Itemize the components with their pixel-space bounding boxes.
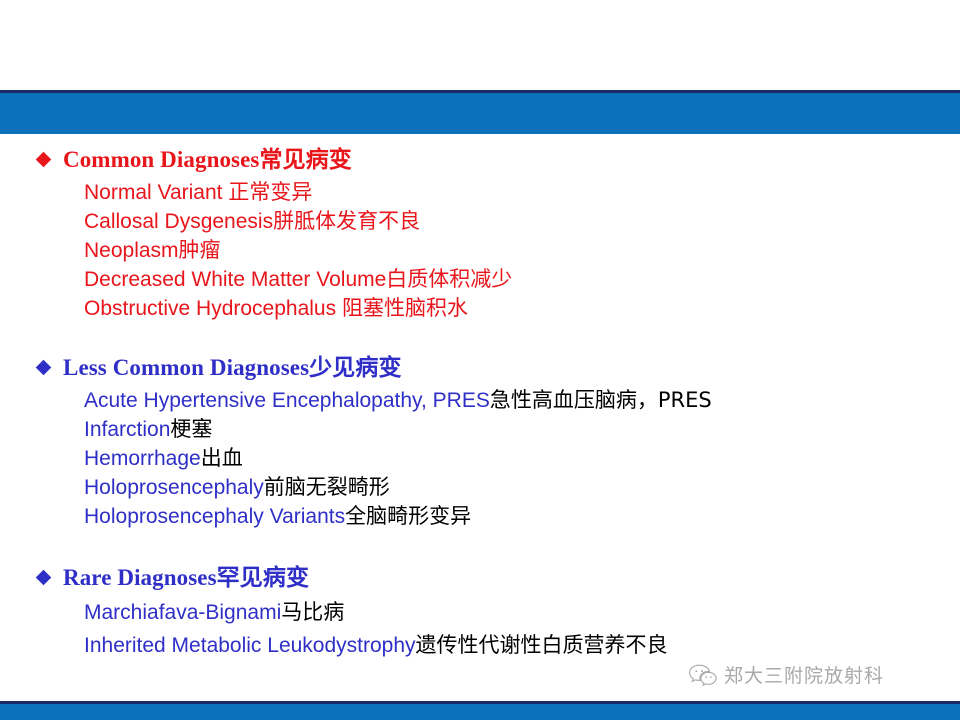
diamond-bullet-icon: [36, 360, 52, 376]
section-item-list: Acute Hypertensive Encephalopathy, PRES急…: [0, 386, 960, 531]
section-rare-diagnoses: Rare Diagnoses罕见病变 Marchiafava-Bignami马比…: [0, 563, 960, 662]
list-item: Holoprosencephaly前脑无裂畸形: [84, 473, 960, 502]
list-item: Callosal Dysgenesis胼胝体发育不良: [84, 207, 960, 236]
top-decorative-bar: [0, 93, 960, 134]
diamond-bullet-icon: [36, 570, 52, 586]
section-heading-cn: 罕见病变: [217, 565, 309, 591]
list-item: Hemorrhage出血: [84, 444, 960, 473]
list-item-cn: 梗塞: [170, 417, 212, 441]
list-item: Normal Variant 正常变异: [84, 178, 960, 207]
slide-canvas: Common Diagnoses常见病变 Normal Variant 正常变异…: [0, 0, 960, 720]
section-heading-less-common-diagnoses: Less Common Diagnoses少见病变: [0, 353, 960, 383]
list-item-cn: 马比病: [281, 600, 344, 624]
list-item-en: Holoprosencephaly: [84, 476, 264, 499]
section-heading-cn: 常见病变: [259, 147, 351, 173]
section-heading-common-diagnoses: Common Diagnoses常见病变: [0, 145, 960, 175]
bottom-decorative-bar: [0, 704, 960, 720]
watermark-text: 郑大三附院放射科: [724, 661, 884, 688]
list-item-cn: 遗传性代谢性白质营养不良: [416, 633, 668, 657]
list-item-en: Obstructive Hydrocephalus: [84, 297, 342, 320]
list-item: Neoplasm肿瘤: [84, 236, 960, 265]
section-gap: [0, 323, 960, 353]
list-item-cn: 白质体积减少: [386, 267, 512, 291]
list-item-cn: 急性高血压脑病，PRES: [490, 388, 712, 412]
section-gap: [0, 531, 960, 563]
diamond-bullet-icon: [36, 152, 52, 168]
section-heading-rare-diagnoses: Rare Diagnoses罕见病变: [0, 563, 960, 593]
slide-content: Common Diagnoses常见病变 Normal Variant 正常变异…: [0, 145, 960, 662]
list-item: Acute Hypertensive Encephalopathy, PRES急…: [84, 386, 960, 415]
list-item-en: Holoprosencephaly Variants: [84, 505, 345, 528]
list-item-en: Marchiafava-Bignami: [84, 601, 281, 624]
list-item-en: Infarction: [84, 418, 170, 441]
section-item-list: Normal Variant 正常变异 Callosal Dysgenesis胼…: [0, 178, 960, 323]
list-item-en: Callosal Dysgenesis: [84, 210, 273, 233]
section-item-list: Marchiafava-Bignami马比病 Inherited Metabol…: [0, 596, 960, 662]
list-item-cn: 胼胝体发育不良: [273, 209, 420, 233]
wechat-icon: [688, 663, 718, 687]
section-heading-cn: 少见病变: [309, 355, 401, 381]
list-item: Inherited Metabolic Leukodystrophy遗传性代谢性…: [84, 629, 960, 662]
section-heading-en: Less Common Diagnoses: [63, 355, 309, 380]
list-item-cn: 前脑无裂畸形: [264, 475, 390, 499]
list-item-cn: 出血: [201, 446, 243, 470]
list-item-cn: 阻塞性脑积水: [342, 296, 468, 320]
list-item-en: Acute Hypertensive Encephalopathy, PRES: [84, 389, 490, 412]
list-item: Obstructive Hydrocephalus 阻塞性脑积水: [84, 294, 960, 323]
section-heading-en: Common Diagnoses: [63, 147, 259, 172]
section-common-diagnoses: Common Diagnoses常见病变 Normal Variant 正常变异…: [0, 145, 960, 323]
list-item: Holoprosencephaly Variants全脑畸形变异: [84, 502, 960, 531]
list-item-cn: 正常变异: [228, 180, 312, 204]
list-item-en: Normal Variant: [84, 181, 228, 204]
list-item-en: Decreased White Matter Volume: [84, 268, 386, 291]
list-item: Decreased White Matter Volume白质体积减少: [84, 265, 960, 294]
list-item: Infarction梗塞: [84, 415, 960, 444]
list-item-cn: 全脑畸形变异: [345, 504, 471, 528]
section-heading-en: Rare Diagnoses: [63, 565, 217, 590]
list-item-en: Inherited Metabolic Leukodystrophy: [84, 634, 416, 657]
list-item: Marchiafava-Bignami马比病: [84, 596, 960, 629]
list-item-en: Neoplasm: [84, 239, 179, 262]
list-item-en: Hemorrhage: [84, 447, 201, 470]
list-item-cn: 肿瘤: [179, 238, 221, 262]
section-less-common-diagnoses: Less Common Diagnoses少见病变 Acute Hyperten…: [0, 353, 960, 531]
watermark: 郑大三附院放射科: [688, 661, 884, 688]
